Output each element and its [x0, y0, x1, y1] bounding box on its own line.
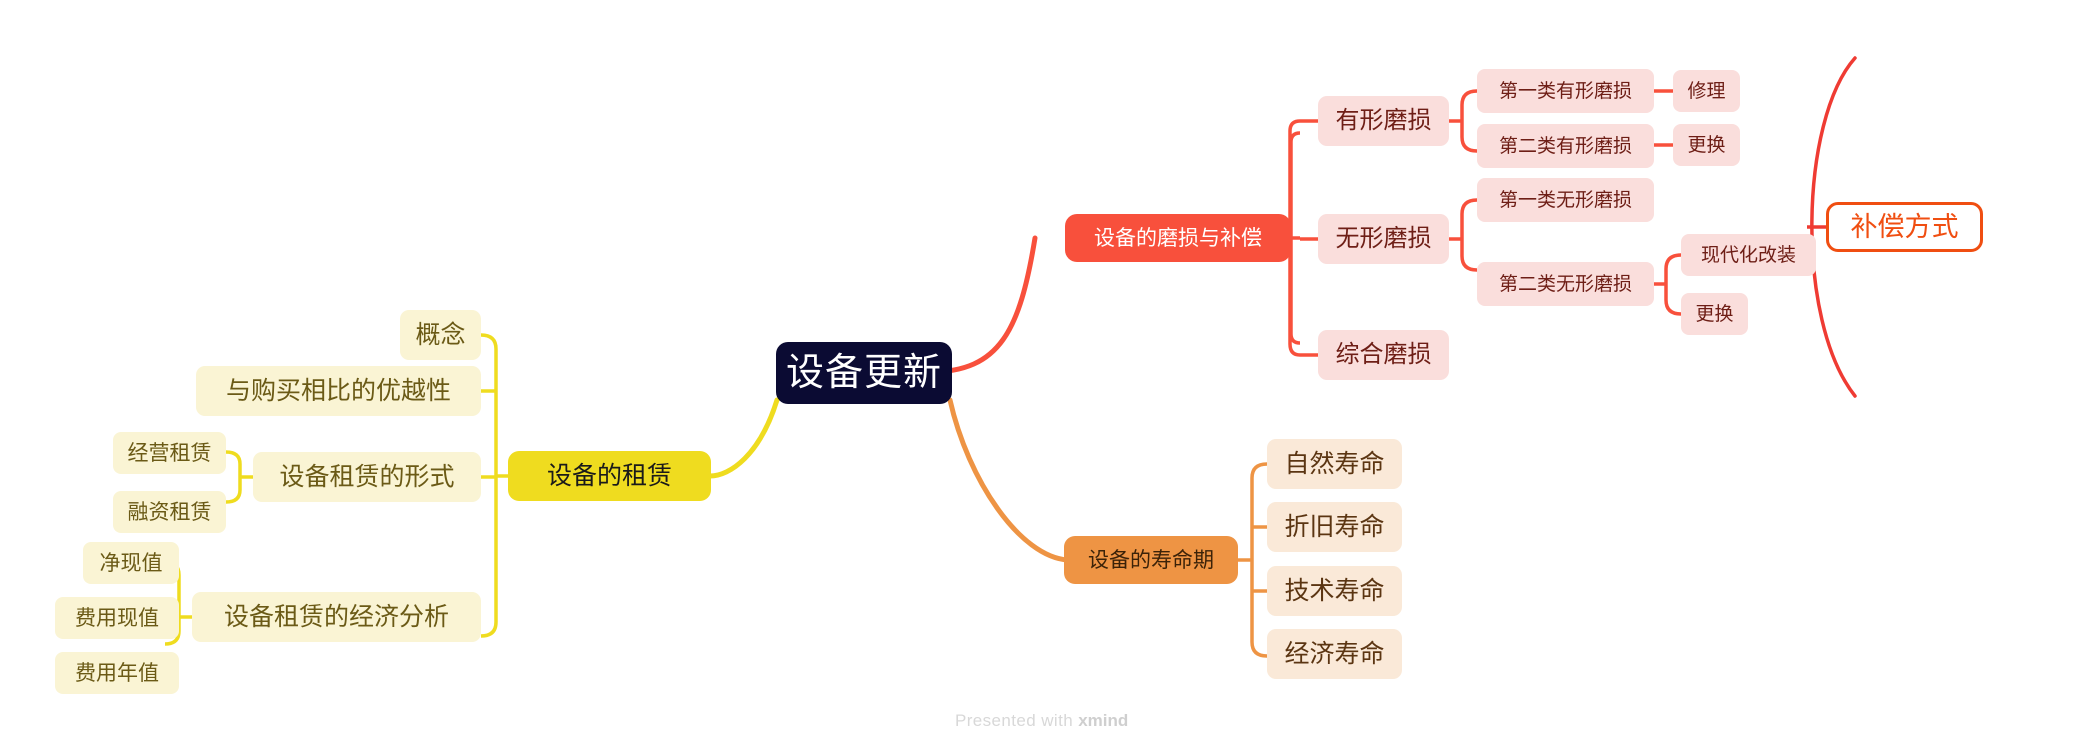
node-finance-lease[interactable]: 融资租赁	[113, 491, 226, 533]
node-operating-lease-label: 经营租赁	[128, 443, 212, 464]
connector-root-to-lease	[710, 400, 777, 476]
node-modernization[interactable]: 现代化改装	[1681, 234, 1816, 276]
node-intangible-type-2-label: 第二类无形磨损	[1499, 275, 1632, 294]
node-depreciation-life[interactable]: 折旧寿命	[1267, 502, 1402, 552]
node-advantages-vs-purchase[interactable]: 与购买相比的优越性	[196, 366, 481, 416]
node-annual-cost-value-label: 费用年值	[75, 663, 159, 684]
node-lease-economic-analysis[interactable]: 设备租赁的经济分析	[192, 592, 481, 642]
branch-node-wear-compensation[interactable]: 设备的磨损与补偿	[1065, 214, 1291, 262]
node-replace-intangible-label: 更换	[1695, 305, 1733, 324]
branch-node-equipment-lease[interactable]: 设备的租赁	[508, 451, 711, 501]
node-intangible-wear-label: 无形磨损	[1336, 227, 1432, 251]
connector-root-to-lifespan	[950, 400, 1068, 560]
node-replace-intangible[interactable]: 更换	[1681, 293, 1748, 335]
node-tangible-type-2[interactable]: 第二类有形磨损	[1477, 124, 1654, 168]
root-node[interactable]: 设备更新	[776, 342, 952, 404]
connector-lease-fork	[481, 335, 496, 636]
branch-node-wear-compensation-label: 设备的磨损与补偿	[1094, 228, 1262, 249]
node-comprehensive-wear-label: 综合磨损	[1336, 343, 1432, 367]
root-node-label: 设备更新	[786, 354, 942, 392]
node-economic-life[interactable]: 经济寿命	[1267, 629, 1402, 679]
node-repair[interactable]: 修理	[1673, 70, 1740, 112]
node-modernization-label: 现代化改装	[1701, 246, 1796, 265]
node-tangible-wear[interactable]: 有形磨损	[1318, 96, 1449, 146]
node-cost-present-value-label: 费用现值	[75, 608, 159, 629]
node-tangible-type-1-label: 第一类有形磨损	[1499, 82, 1632, 101]
node-tangible-wear-label: 有形磨损	[1336, 109, 1432, 133]
node-finance-lease-label: 融资租赁	[128, 502, 212, 523]
node-replace-tangible-label: 更换	[1687, 136, 1725, 155]
node-tangible-type-2-label: 第二类有形磨损	[1499, 137, 1632, 156]
node-concept-label: 概念	[415, 323, 465, 348]
branch-node-equipment-lease-label: 设备的租赁	[547, 464, 672, 489]
node-tangible-type-1[interactable]: 第一类有形磨损	[1477, 69, 1654, 113]
node-intangible-type-2[interactable]: 第二类无形磨损	[1477, 262, 1654, 306]
node-repair-label: 修理	[1687, 82, 1725, 101]
connector-intangible-fork	[1462, 200, 1477, 270]
node-natural-life-label: 自然寿命	[1284, 452, 1384, 477]
node-intangible-type-1[interactable]: 第一类无形磨损	[1477, 178, 1654, 222]
branch-node-lifespan[interactable]: 设备的寿命期	[1064, 536, 1238, 584]
connector-lifespan-fork	[1252, 464, 1267, 656]
summary-node-compensation-method[interactable]: 补偿方式	[1826, 202, 1983, 252]
watermark-brand: xmind	[1078, 711, 1128, 730]
node-annual-cost-value[interactable]: 费用年值	[55, 652, 179, 694]
node-lease-forms-label: 设备租赁的形式	[279, 465, 454, 490]
node-natural-life[interactable]: 自然寿命	[1267, 439, 1402, 489]
connector-itype2-fork	[1666, 255, 1681, 314]
connector-forms-fork	[226, 452, 240, 502]
node-technical-life[interactable]: 技术寿命	[1267, 566, 1402, 616]
node-operating-lease[interactable]: 经营租赁	[113, 432, 226, 474]
node-depreciation-life-label: 折旧寿命	[1284, 515, 1384, 540]
node-technical-life-label: 技术寿命	[1284, 579, 1384, 604]
connector-tangible-fork	[1462, 91, 1477, 151]
node-net-present-value[interactable]: 净现值	[83, 542, 179, 584]
node-intangible-wear[interactable]: 无形磨损	[1318, 214, 1449, 264]
node-concept[interactable]: 概念	[400, 310, 481, 360]
xmind-watermark: Presented with xmind	[955, 711, 1128, 731]
node-intangible-type-1-label: 第一类无形磨损	[1499, 191, 1632, 210]
node-lease-economic-analysis-label: 设备租赁的经济分析	[224, 605, 449, 630]
node-advantages-vs-purchase-label: 与购买相比的优越性	[226, 379, 451, 404]
watermark-prefix: Presented with	[955, 711, 1073, 730]
summary-node-compensation-method-label: 补偿方式	[1851, 214, 1959, 241]
branch-node-lifespan-label: 设备的寿命期	[1088, 550, 1214, 571]
node-comprehensive-wear[interactable]: 综合磨损	[1318, 330, 1449, 380]
node-cost-present-value[interactable]: 费用现值	[55, 597, 179, 639]
node-economic-life-label: 经济寿命	[1284, 642, 1384, 667]
node-replace-tangible[interactable]: 更换	[1673, 124, 1740, 166]
node-net-present-value-label: 净现值	[100, 553, 163, 574]
node-lease-forms[interactable]: 设备租赁的形式	[253, 452, 481, 502]
